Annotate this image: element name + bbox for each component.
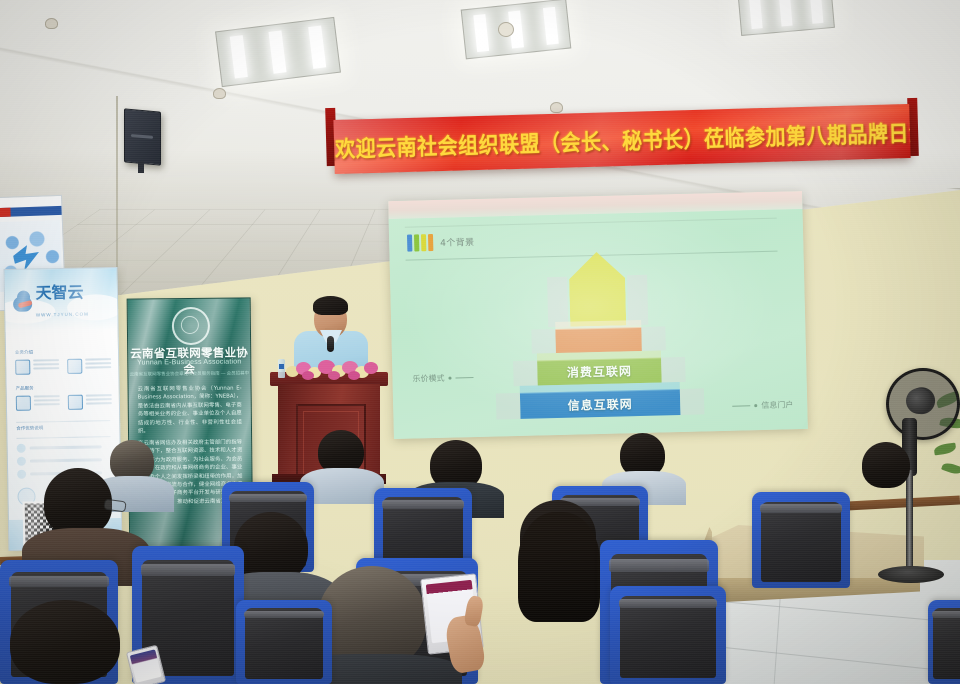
audience-chair[interactable] xyxy=(236,600,332,684)
association-subtitle-en: Yunnan E-Business Association xyxy=(128,358,250,366)
calendar-icon xyxy=(16,396,31,411)
smoke-detector-icon xyxy=(213,88,226,99)
tianzhiyun-url: WWW.TJYUN.COM xyxy=(36,312,89,318)
tianzhiyun-logo: 天智云 WWW.TJYUN.COM xyxy=(13,284,118,322)
smoke-detector-icon xyxy=(550,102,563,113)
audience-head xyxy=(44,468,112,536)
server-icon xyxy=(68,395,83,410)
tianzhiyun-brand-name: 天智云 xyxy=(35,283,83,303)
rollup-divider xyxy=(16,436,110,439)
association-subtitle-cn: 云南省互联网零售业协会章程及会员服务指南 — 会员招募中 xyxy=(128,370,250,377)
association-paragraph-1: 云南省互联网零售业协会（Yunnan E-Business Associatio… xyxy=(138,384,243,435)
bullet-icon xyxy=(17,457,26,466)
rollup-section-2-label: 产品服务 xyxy=(16,386,34,392)
bullet-icon xyxy=(17,444,26,453)
ceiling-dome-icon xyxy=(498,22,514,37)
conference-room-photo: 热烈欢迎云南社会组织联盟（会长、秘书长）莅临参加第八期品牌日活动 4个背景 xyxy=(0,0,960,684)
pyramid-tier-green-label: 消费互联网 xyxy=(567,362,632,381)
audience-long-hair xyxy=(518,512,600,622)
pedestal-fan-hub xyxy=(906,388,932,414)
audience-chair[interactable] xyxy=(928,600,960,684)
pyramid-tier-orange xyxy=(555,327,642,353)
microphone-icon xyxy=(327,336,334,352)
slide-callout-left: 乐价模式 xyxy=(412,372,473,384)
projection-screen: 4个背景 消费互联网 xyxy=(388,191,808,439)
pyramid-wing-right xyxy=(627,275,648,325)
rollup-section-3-label: 合作优势说明 xyxy=(16,425,43,431)
rollup-section-1-label: 业务介绍 xyxy=(15,350,33,356)
welcome-banner-text: 热烈欢迎云南社会组织联盟（会长、秘书长）莅临参加第八期品牌日活动 xyxy=(333,114,910,165)
wall-poster-accent xyxy=(0,208,11,217)
bullet-icon xyxy=(17,470,26,479)
pyramid-tier-blue: 信息互联网 xyxy=(520,389,681,419)
rollup-feature-row xyxy=(15,358,111,375)
pedestal-fan-base xyxy=(878,566,944,583)
rollup-divider xyxy=(16,420,110,423)
pyramid-top-arrow xyxy=(568,251,626,326)
audience-head-front xyxy=(318,566,426,668)
rollup-feature-row xyxy=(16,394,112,411)
pyramid-tier-green: 消费互联网 xyxy=(537,357,662,385)
pyramid-wing-left xyxy=(547,277,568,327)
cloud-icon xyxy=(13,296,32,311)
slide-callout-right-label: 信息门户 xyxy=(761,399,793,411)
presentation-slide: 4个背景 消费互联网 xyxy=(389,209,808,439)
audience-chair[interactable] xyxy=(610,586,726,684)
rollup-bullet-item xyxy=(17,455,102,465)
association-seal-icon xyxy=(172,307,210,345)
podium-flower-arrangement xyxy=(282,358,378,382)
smoke-detector-icon xyxy=(45,18,58,29)
audience-chair[interactable] xyxy=(752,492,850,588)
rollup-bullet-item xyxy=(17,442,102,452)
slide-callout-left-label: 乐价模式 xyxy=(412,373,444,385)
audience-head-front xyxy=(10,600,120,684)
audience-head xyxy=(862,442,910,488)
pyramid-diagram: 消费互联网 信息互联网 乐价模式 信息门户 xyxy=(389,209,808,439)
wall-speaker-bracket xyxy=(138,161,144,173)
pyramid-tier-blue-label: 信息互联网 xyxy=(567,395,632,414)
speaker-hair xyxy=(313,296,348,315)
slide-callout-right: 信息门户 xyxy=(732,399,793,411)
pedestal-fan-pole xyxy=(906,470,913,575)
gauge-icon xyxy=(15,360,30,375)
wall-speaker-icon xyxy=(124,108,161,165)
grid-icon xyxy=(67,359,82,374)
